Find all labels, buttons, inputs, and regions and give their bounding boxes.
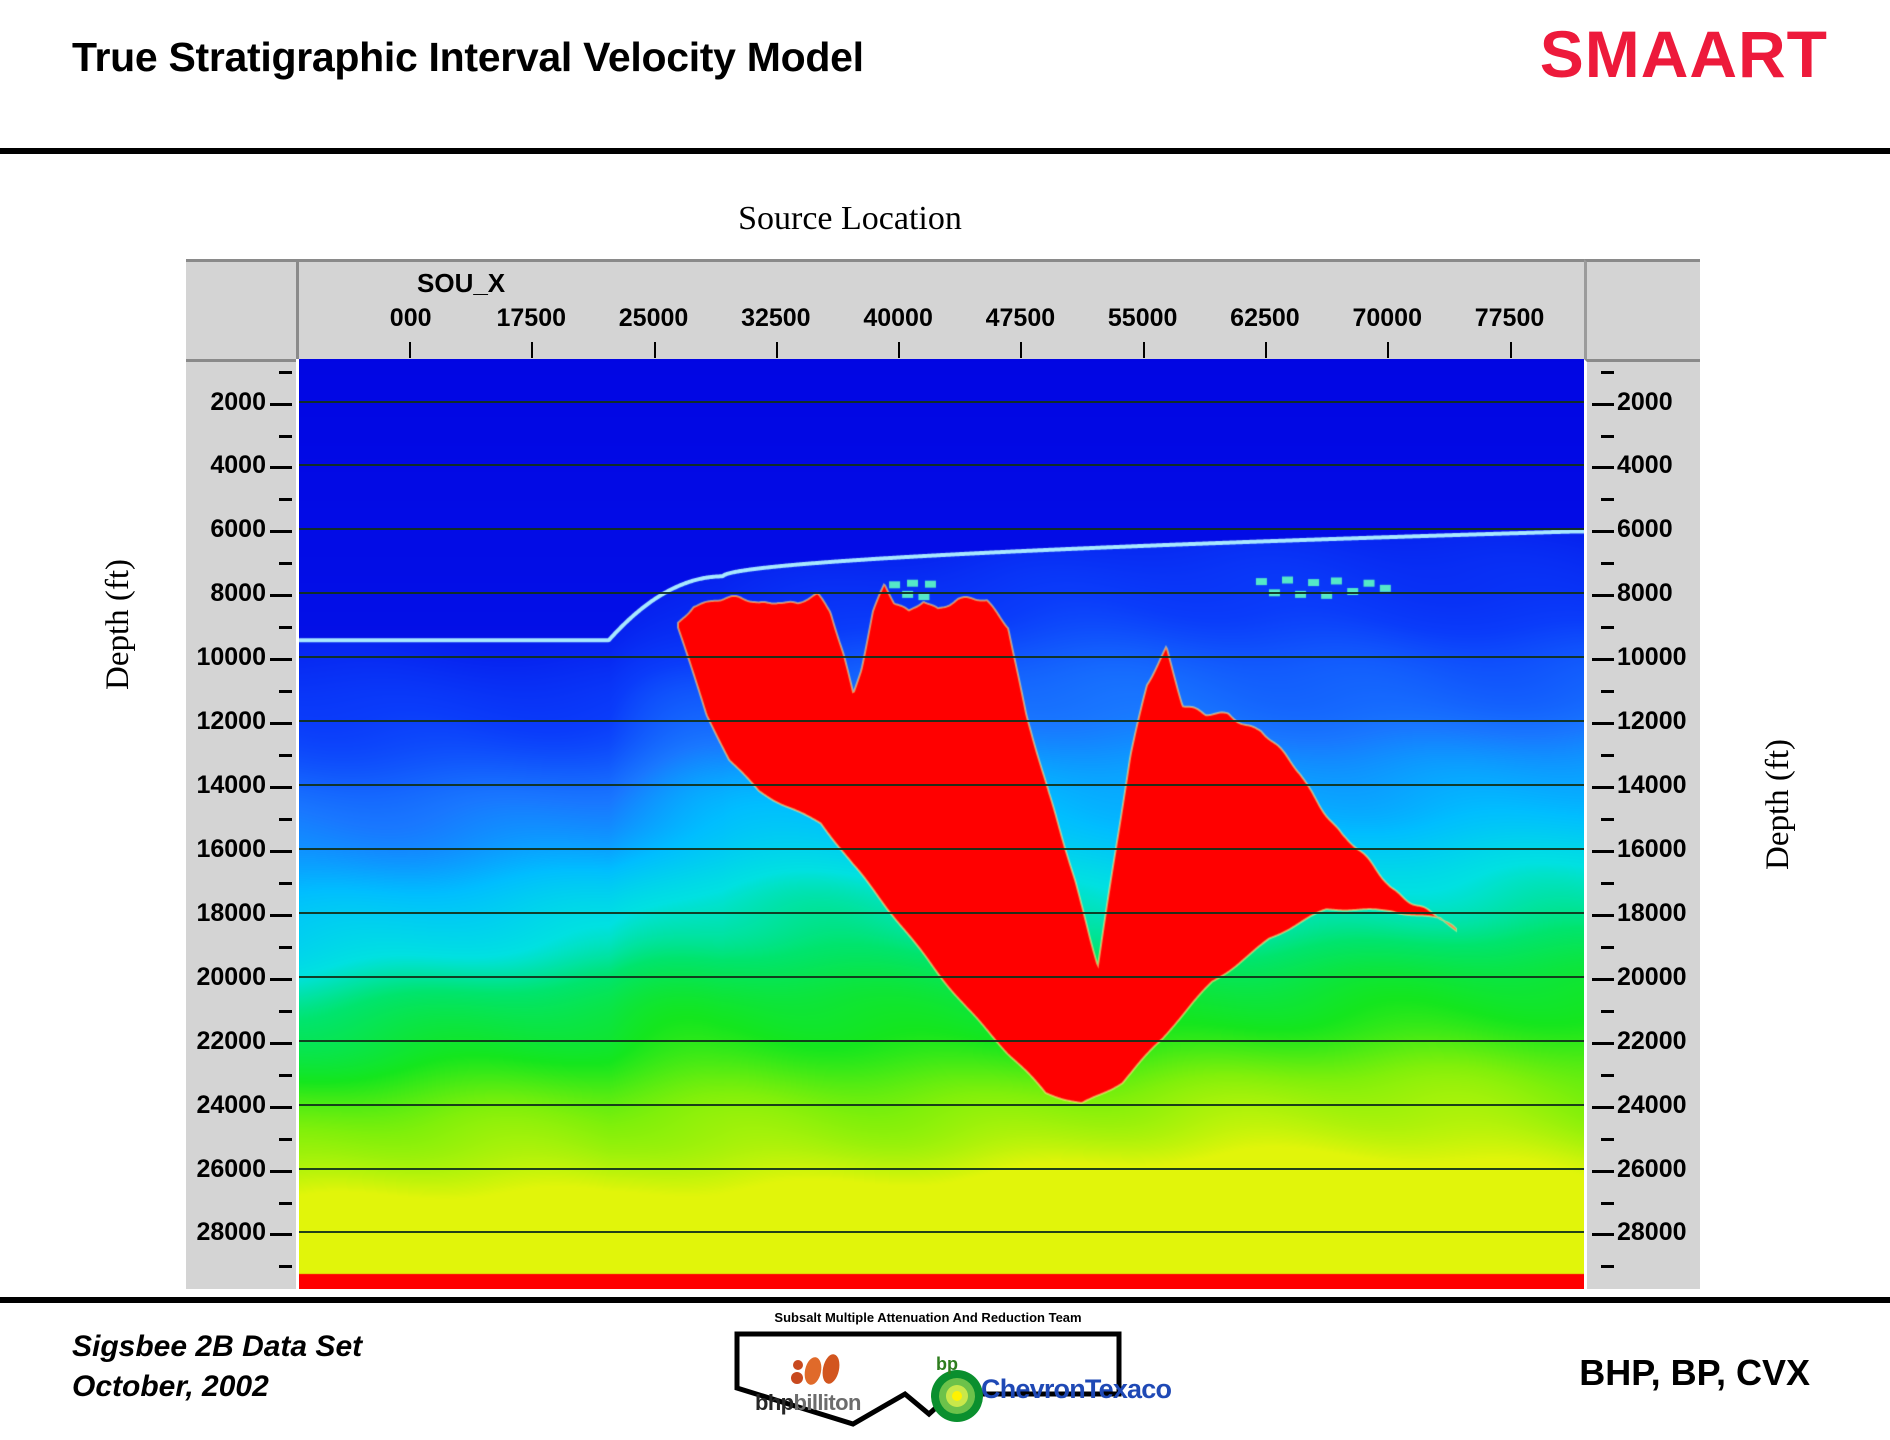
y-axis-tick-mark xyxy=(1601,1202,1614,1205)
y-axis-tick-mark xyxy=(1592,722,1614,725)
y-axis-tick-mark xyxy=(1601,818,1614,821)
y-axis-tick-mark xyxy=(1592,1233,1614,1236)
y-axis-title-right: Depth (ft) xyxy=(1760,739,1797,870)
y-axis-tick-mark xyxy=(279,1202,292,1205)
depth-gridline xyxy=(299,784,1584,786)
y-axis-tick-label: 6000 xyxy=(1617,515,1673,544)
y-axis-tick-mark xyxy=(270,722,292,725)
y-axis-tick-label: 22000 xyxy=(1617,1027,1687,1056)
y-axis-tick-label: 26000 xyxy=(196,1155,266,1184)
x-axis-tick-mark xyxy=(898,342,900,358)
x-axis-tick-mark xyxy=(1143,342,1145,358)
y-axis-tick-mark xyxy=(270,403,292,406)
y-axis-tick-mark xyxy=(279,946,292,949)
top-axis-panel: SOU_X 0001750025000325004000047500550006… xyxy=(296,259,1584,359)
y-axis-tick-mark xyxy=(270,530,292,533)
x-axis-tick-container: 0001750025000325004000047500550006250070… xyxy=(409,304,1587,362)
y-axis-tick-mark xyxy=(1601,754,1614,757)
y-axis-tick-mark xyxy=(279,690,292,693)
consortium-tagline: Subsalt Multiple Attenuation And Reducti… xyxy=(733,1310,1123,1325)
y-axis-tick-label: 24000 xyxy=(1617,1091,1687,1120)
y-axis-tick-mark xyxy=(270,1042,292,1045)
y-axis-tick-mark xyxy=(1601,626,1614,629)
x-axis-tick-label: 55000 xyxy=(1108,304,1178,333)
x-axis-tick-label: 47500 xyxy=(986,304,1056,333)
x-axis-tick-mark xyxy=(1020,342,1022,358)
depth-gridline xyxy=(299,1104,1584,1106)
bhpbilliton-wordmark: bhpbilliton xyxy=(755,1390,861,1416)
smaart-logo-wordmark: SMAART xyxy=(1540,16,1828,92)
y-axis-tick-mark xyxy=(1601,1074,1614,1077)
y-axis-tick-mark xyxy=(1592,786,1614,789)
y-axis-tick-mark xyxy=(270,1170,292,1173)
depth-gridline xyxy=(299,592,1584,594)
x-axis-tick-mark xyxy=(409,342,411,358)
bhpbilliton-mark-icon xyxy=(789,1354,847,1388)
y-axis-tick-label: 14000 xyxy=(196,771,266,800)
x-axis-tick-mark xyxy=(654,342,656,358)
bhp-rest: billiton xyxy=(794,1390,861,1415)
depth-gridline xyxy=(299,976,1584,978)
velocity-model-figure: SOU_X 0001750025000325004000047500550006… xyxy=(186,259,1700,1289)
consortium-badge: bhpbilliton bp ChevronTexaco xyxy=(733,1328,1123,1428)
dataset-caption: Sigsbee 2B Data Set October, 2002 xyxy=(72,1327,362,1407)
y-axis-tick-mark xyxy=(1592,658,1614,661)
depth-gridline xyxy=(299,1231,1584,1233)
y-axis-tick-label: 12000 xyxy=(196,707,266,736)
x-axis-tick-mark xyxy=(1387,342,1389,358)
y-axis-tick-mark xyxy=(279,562,292,565)
y-axis-tick-mark xyxy=(1592,1106,1614,1109)
y-axis-tick-mark xyxy=(270,658,292,661)
x-axis-tick-mark xyxy=(1265,342,1267,358)
x-axis-title: SOU_X xyxy=(417,268,505,299)
y-axis-tick-label: 4000 xyxy=(1617,451,1673,480)
y-axis-tick-label: 16000 xyxy=(1617,835,1687,864)
bp-wordmark: bp xyxy=(936,1354,958,1375)
y-axis-tick-label: 28000 xyxy=(1617,1218,1687,1247)
consortium-logo: Subsalt Multiple Attenuation And Reducti… xyxy=(733,1310,1123,1428)
depth-gridline xyxy=(299,656,1584,658)
y-axis-tick-mark xyxy=(270,914,292,917)
y-axis-tick-mark xyxy=(1592,466,1614,469)
y-axis-tick-mark xyxy=(270,1106,292,1109)
page-title: True Stratigraphic Interval Velocity Mod… xyxy=(72,34,864,81)
y-axis-tick-mark xyxy=(279,371,292,374)
sponsors-label: BHP, BP, CVX xyxy=(1579,1352,1810,1394)
y-axis-tick-label: 18000 xyxy=(1617,899,1687,928)
y-axis-tick-mark xyxy=(270,594,292,597)
y-axis-tick-label: 24000 xyxy=(196,1091,266,1120)
y-axis-tick-mark xyxy=(1592,850,1614,853)
slide-header: True Stratigraphic Interval Velocity Mod… xyxy=(0,0,1890,152)
velocity-section-plot xyxy=(296,359,1584,1289)
x-axis-tick-label: 62500 xyxy=(1230,304,1300,333)
y-axis-tick-label: 18000 xyxy=(196,899,266,928)
bp-helios-icon xyxy=(929,1368,985,1424)
y-axis-tick-label: 2000 xyxy=(210,388,266,417)
y-axis-tick-mark xyxy=(270,1233,292,1236)
depth-gridline xyxy=(299,528,1584,530)
y-axis-tick-label: 10000 xyxy=(1617,643,1687,672)
y-axis-tick-label: 12000 xyxy=(1617,707,1687,736)
y-axis-tick-mark xyxy=(1592,1170,1614,1173)
y-axis-tick-label: 10000 xyxy=(196,643,266,672)
y-axis-tick-mark xyxy=(1592,530,1614,533)
y-axis-tick-label: 4000 xyxy=(210,451,266,480)
y-axis-tick-mark xyxy=(1592,403,1614,406)
depth-gridline xyxy=(299,401,1584,403)
right-depth-axis-panel: 2000400060008000100001200014000160001800… xyxy=(1584,359,1700,1289)
x-axis-tick-mark xyxy=(776,342,778,358)
y-axis-tick-label: 22000 xyxy=(196,1027,266,1056)
y-axis-tick-mark xyxy=(279,626,292,629)
y-axis-tick-label: 26000 xyxy=(1617,1155,1687,1184)
y-axis-tick-label: 20000 xyxy=(1617,963,1687,992)
y-axis-tick-mark xyxy=(1601,435,1614,438)
y-axis-tick-mark xyxy=(279,754,292,757)
y-axis-tick-mark xyxy=(1601,1138,1614,1141)
y-axis-tick-label: 28000 xyxy=(196,1218,266,1247)
x-axis-tick-label: 25000 xyxy=(619,304,689,333)
header-divider xyxy=(0,148,1890,154)
y-axis-tick-mark xyxy=(279,882,292,885)
depth-gridline xyxy=(299,464,1584,466)
y-axis-tick-mark xyxy=(1601,946,1614,949)
y-axis-tick-mark xyxy=(1592,1042,1614,1045)
depth-gridline xyxy=(299,848,1584,850)
y-axis-tick-mark xyxy=(1601,1265,1614,1268)
axis-corner-topleft xyxy=(186,259,296,359)
y-axis-tick-mark xyxy=(1601,562,1614,565)
left-depth-axis-panel: 2000400060008000100001200014000160001800… xyxy=(186,359,296,1289)
y-axis-tick-mark xyxy=(279,1138,292,1141)
y-axis-tick-label: 20000 xyxy=(196,963,266,992)
y-axis-tick-mark xyxy=(279,818,292,821)
y-axis-tick-mark xyxy=(1601,1010,1614,1013)
y-axis-tick-mark xyxy=(1601,371,1614,374)
chart-title: Source Location xyxy=(0,200,1700,238)
y-axis-tick-mark xyxy=(279,1265,292,1268)
x-axis-tick-label: 17500 xyxy=(497,304,567,333)
depth-gridline xyxy=(299,1040,1584,1042)
y-axis-tick-label: 8000 xyxy=(210,579,266,608)
x-axis-tick-mark xyxy=(531,342,533,358)
y-axis-tick-mark xyxy=(279,498,292,501)
y-axis-tick-mark xyxy=(1601,882,1614,885)
dataset-date: October, 2002 xyxy=(72,1367,362,1407)
y-axis-title-left: Depth (ft) xyxy=(100,559,137,690)
y-axis-tick-mark xyxy=(1592,978,1614,981)
x-axis-tick-label: 70000 xyxy=(1352,304,1422,333)
x-axis-tick-mark xyxy=(1510,342,1512,358)
y-axis-tick-mark xyxy=(1601,498,1614,501)
y-axis-tick-mark xyxy=(1592,914,1614,917)
y-axis-tick-label: 2000 xyxy=(1617,388,1673,417)
x-axis-tick-label: 000 xyxy=(390,304,432,333)
y-axis-tick-mark xyxy=(1592,594,1614,597)
y-axis-tick-mark xyxy=(270,850,292,853)
dataset-name: Sigsbee 2B Data Set xyxy=(72,1327,362,1367)
y-axis-tick-mark xyxy=(279,1010,292,1013)
depth-gridline xyxy=(299,1168,1584,1170)
y-axis-tick-mark xyxy=(279,435,292,438)
y-axis-tick-mark xyxy=(1601,690,1614,693)
x-axis-tick-label: 32500 xyxy=(741,304,811,333)
y-axis-tick-label: 14000 xyxy=(1617,771,1687,800)
x-axis-tick-label: 40000 xyxy=(863,304,933,333)
depth-gridline xyxy=(299,912,1584,914)
y-axis-tick-mark xyxy=(279,1074,292,1077)
y-axis-tick-mark xyxy=(270,978,292,981)
footer-divider xyxy=(0,1297,1890,1303)
x-axis-tick-label: 77500 xyxy=(1475,304,1545,333)
top-axis-clip: SOU_X 0001750025000325004000047500550006… xyxy=(299,262,1587,362)
y-axis-tick-label: 16000 xyxy=(196,835,266,864)
y-axis-tick-label: 6000 xyxy=(210,515,266,544)
velocity-field-canvas xyxy=(299,359,1584,1289)
bhp-bold: bhp xyxy=(755,1390,794,1415)
chevrontexaco-wordmark: ChevronTexaco xyxy=(981,1374,1171,1405)
y-axis-tick-mark xyxy=(270,786,292,789)
axis-corner-topright xyxy=(1584,259,1700,359)
y-axis-tick-mark xyxy=(270,466,292,469)
y-axis-tick-label: 8000 xyxy=(1617,579,1673,608)
depth-gridline xyxy=(299,720,1584,722)
